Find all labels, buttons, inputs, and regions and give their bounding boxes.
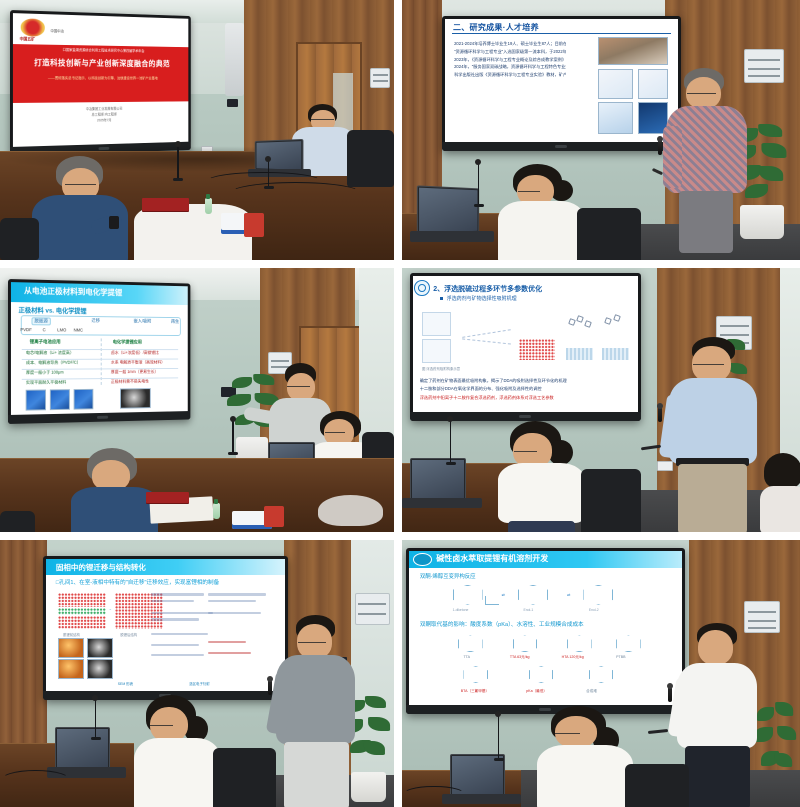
collage-cell-5: 固相中的锂迁移与结构转化 □孔间1、在室-液相中特有的"自迁移"迁移效应，实现富…	[0, 536, 398, 807]
column-header-left: 锂离子电池应用	[30, 339, 61, 345]
chem-ring	[518, 585, 548, 605]
presentation-screen: 二、研究成果·人才培养 2021-2024年培养博士毕业生19人、硕士毕业生87…	[442, 16, 681, 151]
column-header-right: 电化学提锂应用	[113, 339, 142, 345]
collage-cell-4: 2、浮选脱硫过程多环节多参数优化 浮选药剂与矿物选择性吸附机理	[398, 264, 800, 536]
org-seal-icon	[414, 280, 430, 296]
standing-presenter	[669, 337, 761, 532]
chem-ring	[463, 666, 488, 683]
slide-sub-bullet: 浮选药剂与矿物选择性吸附机理	[447, 295, 517, 302]
slide-5: 固相中的锂迁移与结构转化 □孔间1、在室-液相中特有的"自迁移"迁移效应，实现富…	[46, 559, 284, 691]
structure-label: Enol-2	[589, 608, 599, 612]
slide-key-line: 双酮取代基的影响：酸度系数（pKa）、水溶性、工业规模合成成本	[420, 620, 671, 628]
figure-label: 脱锂前结构	[63, 632, 80, 637]
office-chair	[0, 511, 35, 532]
slide-thumbnail-meeting-photo	[598, 37, 668, 65]
laptop-base	[410, 231, 494, 241]
slide-4: 2、浮选脱硫过程多环节多参数优化 浮选药剂与矿物选择性吸附机理	[413, 276, 638, 412]
table-cell: 厚度一般小于 100μm	[26, 369, 64, 375]
screen-surface: 从电池正极材料到电化学提锂 正极材料 vs. 电化学提锂 脱嵌源 迁移 嵌入/吸…	[11, 282, 188, 415]
panel-2-photo: 二、研究成果·人才培养 2021-2024年培养博士毕业生19人、硕士毕业生87…	[402, 0, 800, 260]
microscopy-image-1	[58, 638, 84, 658]
desk-microphone	[232, 421, 233, 453]
chem-ring	[513, 635, 538, 652]
presentation-screen: 2、浮选脱硫过程多环节多参数优化 浮选药剂与矿物选择性吸附机理	[410, 273, 641, 421]
figure-adsorption-model-1	[566, 314, 593, 360]
figure-adsorption-model-2	[602, 314, 629, 360]
chem-ring	[583, 585, 613, 605]
office-chair	[347, 130, 394, 187]
table-cell: 电芯/电解液（Li+ 浓度高）	[26, 349, 74, 355]
office-chair	[577, 208, 641, 260]
structure-label: Enol-1	[523, 608, 533, 612]
slide-subtitle: 正极材料 vs. 电化学提锂	[18, 304, 86, 315]
standing-presenter	[677, 623, 761, 807]
chem-bond	[485, 596, 499, 605]
sem-image	[120, 388, 151, 409]
slide-title: 固相中的锂迁移与结构转化	[56, 562, 146, 573]
seated-attendee	[537, 706, 633, 807]
bottom-label: 合成难	[586, 689, 597, 694]
microscopy-image-2	[58, 659, 84, 679]
slide-subtitle: ——贯彻落实总书记指示，以科技创新为引擎，加快建设世界一流矿产业基地	[22, 76, 180, 81]
panel-6-photo: 碱性卤水萃取提锂有机溶剂开发 双酮-烯醇互变异构反应 ⇌ ⇌ 1-diketon…	[402, 540, 800, 807]
figure-molecular-sim	[519, 339, 555, 361]
cost-label: HTA 120元/kg	[562, 655, 584, 660]
laptop-lid	[255, 139, 304, 172]
diffraction-image-2	[87, 659, 113, 679]
presentation-screen: 固相中的锂迁移与结构转化 □孔间1、在室-液相中特有的"自迁移"迁移效应，实现富…	[43, 556, 287, 700]
panel-1-photo: 中国五矿 中国中冶 口国家盐湖资源综合利用工程技术研究中心第四届学术年会 打造科…	[0, 0, 394, 260]
chem-ring	[589, 666, 614, 683]
material-label: NMC	[73, 327, 82, 332]
lattice-after	[58, 616, 106, 629]
laptop-base	[402, 498, 482, 509]
bottom-label: BTA（三氟甲基）	[461, 689, 489, 694]
standing-presenter	[276, 615, 359, 807]
bullet-item: "资源循环科学与工程专业"入选国家级第一流本科，于2022年通过中国工程教育认证…	[454, 48, 566, 56]
slide-thumbnail-certificate	[598, 69, 633, 99]
cost-label: PTBB	[616, 655, 625, 659]
snack-cup	[244, 213, 264, 236]
office-chair	[0, 218, 39, 260]
handheld-microphone	[658, 140, 662, 155]
slide-title: 从电池正极材料到电化学提锂	[24, 285, 122, 298]
flow-node: 再生	[171, 319, 179, 325]
table-cell: 正极材料需不易失电性	[111, 378, 149, 384]
presentation-screen: 从电池正极材料到电化学提锂 正极材料 vs. 电化学提锂 脱嵌源 迁移 嵌入/吸…	[8, 279, 190, 424]
screen-surface: 2、浮选脱硫过程多环节多参数优化 浮选药剂与矿物选择性吸附机理	[413, 276, 638, 412]
screen-surface: 固相中的锂迁移与结构转化 □孔间1、在室-液相中特有的"自迁移"迁移效应，实现富…	[46, 559, 284, 691]
bullet-item: 科学出版社出版《资源循环科学与工程专业实验》教材，矿产业制定：教材。	[454, 71, 566, 79]
bottom-label: pKa（最低）	[526, 689, 547, 694]
chem-ring	[453, 585, 483, 605]
slide-2: 二、研究成果·人才培养 2021-2024年培养博士毕业生19人、硕士毕业生87…	[445, 19, 678, 142]
table-cell: 成本、电解液导热（PVDF/C）	[26, 359, 81, 365]
material-label: LMO	[57, 327, 66, 332]
slide-subtitle: □孔间1、在室-液相中特有的"自迁移"迁移效应，实现富锂相的制备	[56, 578, 219, 586]
photo-collage-grid: 中国五矿 中国中冶 口国家盐湖资源综合利用工程技术研究中心第四届学术年会 打造科…	[0, 0, 800, 807]
laptop-lid	[417, 186, 479, 236]
wall-control-panel	[370, 68, 390, 89]
screen-bezel-bottom	[410, 412, 641, 421]
flow-node: 迁移	[91, 318, 100, 324]
desk-microphone	[177, 146, 178, 180]
org-logo-label-2: 中国中冶	[50, 29, 64, 34]
screen-surface: 碱性卤水萃取提锂有机溶剂开发 双酮-烯醇互变异构反应 ⇌ ⇌ 1-diketon…	[409, 551, 682, 705]
bullet-item: 2023年，《资源循环科学与工程专业概论及综合成教学案例》入选教材建设学院奖50…	[454, 56, 566, 64]
slide-title: 2、浮选脱硫过程多环节多参数优化	[433, 284, 542, 294]
conclusion-item-highlight: 浮选药剂中阳离子十二胺作复合浮选药剂，浮选药剂体系对浮选工艺参数	[420, 394, 631, 402]
battery-image	[26, 389, 46, 410]
figure-plot-a	[422, 312, 451, 336]
lattice-interface	[58, 608, 106, 615]
cable	[0, 770, 71, 791]
conclusion-item: 确定了药剂在矿物表面最优吸附构象，揭示了DDA的吸附选择性及环节化的机理	[420, 377, 631, 385]
slide-main-title: 打造科技创新与产业创新深度融合的典范	[20, 58, 181, 70]
structure-label: 1-diketone	[453, 608, 469, 612]
table-cell: 卤水（Li+浓度低）/高镁锂比	[111, 350, 159, 356]
office-chair	[625, 764, 689, 807]
bullet-item: 2021-2024年培养博士毕业生19人、硕士毕业生87人；目前在读研究生111…	[454, 40, 566, 48]
panel-5-photo: 固相中的锂迁移与结构转化 □孔间1、在室-液相中特有的"自迁移"迁移效应，实现富…	[0, 540, 394, 807]
collage-cell-2: 二、研究成果·人才培养 2021-2024年培养博士毕业生19人、硕士毕业生87…	[398, 0, 800, 264]
attendee-foreground-left	[32, 156, 134, 260]
lattice-before	[58, 593, 106, 606]
org-logo-minmetals-icon	[20, 19, 44, 37]
table-cell: 厚度一般 1mm（更易生长）	[111, 368, 158, 374]
table-cell: 实现平面耐久平极材料	[26, 379, 66, 385]
office-chair	[213, 748, 276, 807]
bullet-marker	[440, 297, 443, 300]
slide-footnote-right: 选区电子衍射	[189, 681, 209, 686]
chem-ring	[458, 635, 483, 652]
cost-label: TTA 63元/kg	[510, 655, 530, 660]
slide-6: 碱性卤水萃取提锂有机溶剂开发 双酮-烯醇互变异构反应 ⇌ ⇌ 1-diketon…	[409, 551, 682, 705]
water-bottle	[205, 198, 212, 214]
seated-attendee	[498, 164, 586, 260]
seated-attendee	[498, 421, 586, 532]
cable	[402, 786, 466, 805]
handheld-microphone	[668, 687, 672, 702]
figure-caption: 图 浮选药剂吸附构象示意	[422, 366, 460, 371]
panel-4-photo: 2、浮选脱硫过程多环节多参数优化 浮选药剂与矿物选择性吸附机理	[402, 268, 800, 532]
snack-cup	[264, 506, 284, 527]
table-cell: 水系 电解质平衡液（高效材料）	[111, 359, 165, 365]
screen-surface: 中国五矿 中国中冶 口国家盐湖资源综合利用工程技术研究中心第四届学术年会 打造科…	[13, 13, 188, 146]
desk-microphone	[478, 164, 479, 206]
figure-label: 脱锂后结构	[120, 632, 137, 637]
battery-image	[50, 389, 70, 410]
desk-microphone	[450, 421, 451, 463]
material-label: C	[42, 327, 45, 332]
attendee-foreground	[71, 448, 158, 532]
chem-ring	[529, 666, 554, 683]
material-label: PVDF	[20, 327, 31, 332]
chem-arrow: ⇌	[567, 592, 570, 597]
wall-speaker	[225, 23, 245, 96]
laptop-lid	[55, 727, 110, 770]
screen-surface: 二、研究成果·人才培养 2021-2024年培养博士毕业生19人、硕士毕业生87…	[445, 19, 678, 142]
red-folder	[142, 198, 189, 211]
phone-in-hand	[109, 216, 118, 229]
flow-node: 脱嵌源	[31, 317, 50, 325]
conclusion-item: 十二胺和部分DDA在氧化学界面的分布、强化吸附及选择性的调控	[420, 385, 631, 393]
diffraction-image-1	[87, 638, 113, 658]
handheld-microphone	[658, 407, 662, 422]
standing-presenter	[665, 68, 753, 250]
org-seal-icon	[413, 553, 432, 566]
panel-3-photo: 从电池正极材料到电化学提锂 正极材料 vs. 电化学提锂 脱嵌源 迁移 嵌入/吸…	[0, 268, 394, 532]
slide-footnote-left: SEM 形貌	[118, 681, 133, 686]
laptop-lid	[410, 458, 466, 500]
battery-image	[73, 388, 93, 409]
collage-cell-1: 中国五矿 中国中冶 口国家盐湖资源综合利用工程技术研究中心第四届学术年会 打造科…	[0, 0, 398, 264]
slide-footer-line-3: 2025年7月	[13, 116, 188, 125]
attendee-foreground-right	[299, 495, 394, 532]
collage-cell-3: 从电池正极材料到电化学提锂 正极材料 vs. 电化学提锂 脱嵌源 迁移 嵌入/吸…	[0, 264, 398, 536]
wall-control-panel	[355, 593, 390, 625]
chem-ring	[616, 635, 641, 652]
office-chair	[581, 469, 641, 532]
cost-label: TTA	[463, 655, 470, 659]
presentation-screen: 碱性卤水萃取提锂有机溶剂开发 双酮-烯醇互变异构反应 ⇌ ⇌ 1-diketon…	[406, 548, 685, 714]
water-bottle	[213, 503, 220, 519]
handheld-microphone	[268, 680, 272, 695]
slide-bullet-list: 2021-2024年培养博士毕业生19人、硕士毕业生87人；目前在读研究生111…	[454, 40, 566, 80]
attendee-edge-right	[760, 453, 800, 532]
wall-sensor	[227, 99, 239, 107]
chem-ring	[567, 635, 592, 652]
desk-microphone	[498, 716, 499, 759]
slide-title: 碱性卤水萃取提锂有机溶剂开发	[436, 553, 548, 564]
bullet-item: 2024年，"服务国家双碳战略，资源循环科学与工程特色专业交叉型人才培养体系构建…	[454, 63, 566, 71]
screen-bezel-bottom	[442, 142, 681, 151]
slide-section-label: 双酮-烯醇互变异构反应	[420, 572, 476, 580]
presentation-screen: 中国五矿 中国中冶 口国家盐湖资源综合利用工程技术研究中心第四届学术年会 打造科…	[10, 10, 191, 156]
slide-title: 二、研究成果·人才培养	[453, 22, 539, 33]
slide-thumbnail-textbook	[598, 102, 633, 134]
flow-node: 嵌入/吸附	[133, 318, 151, 324]
arrow-label: →	[108, 607, 112, 611]
red-folder	[146, 492, 189, 503]
seated-attendee	[134, 695, 221, 807]
chem-arrow: ⇌	[502, 592, 505, 597]
slide-1: 中国五矿 中国中冶 口国家盐湖资源综合利用工程技术研究中心第四届学术年会 打造科…	[13, 13, 188, 146]
slide-3: 从电池正极材料到电化学提锂 正极材料 vs. 电化学提锂 脱嵌源 迁移 嵌入/吸…	[11, 282, 188, 415]
collage-cell-6: 碱性卤水萃取提锂有机溶剂开发 双酮-烯醇互变异构反应 ⇌ ⇌ 1-diketon…	[398, 536, 800, 807]
desk-microphone	[95, 700, 96, 737]
slide-conclusions: 确定了药剂在矿物表面最优吸附构象，揭示了DDA的吸附选择性及环节化的机理 十二胺…	[420, 377, 631, 402]
org-logo-label-1: 中国五矿	[19, 36, 34, 42]
figure-plot-b	[422, 339, 451, 363]
